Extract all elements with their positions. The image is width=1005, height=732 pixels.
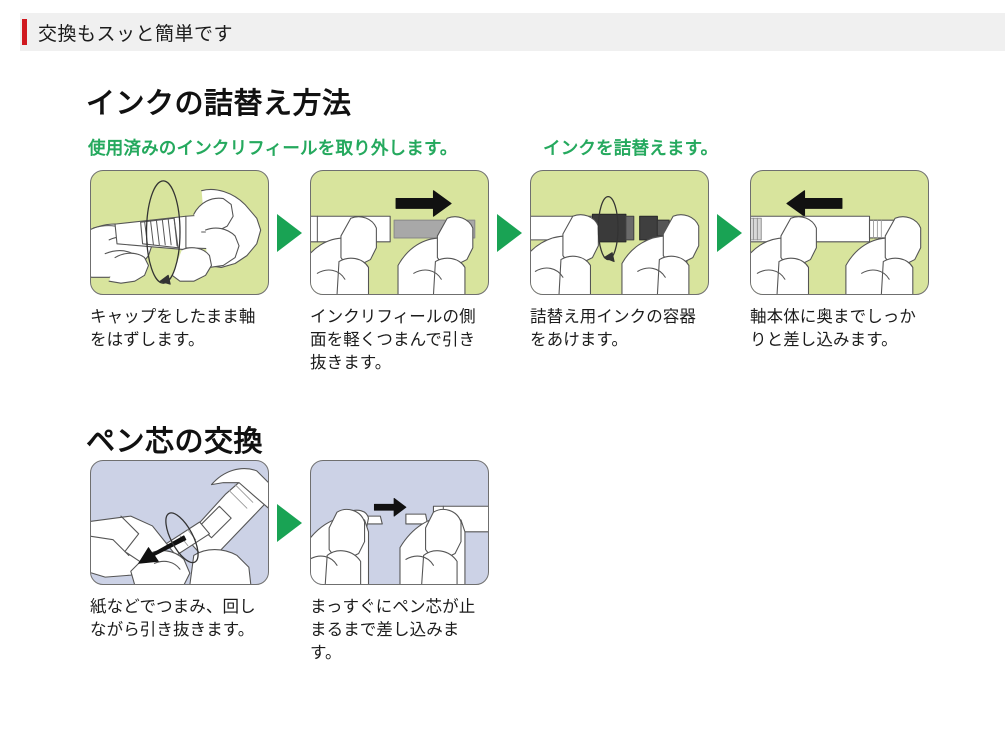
step-caption: 詰替え用インクの容器をあけます。: [530, 306, 700, 352]
step-arrow-icon: [709, 170, 750, 295]
illustration-unscrew-barrel: [90, 170, 269, 295]
illustration-insert-nib: [310, 460, 489, 585]
subtitle-remove-used-refill: 使用済みのインクリフィールを取り外します。: [88, 135, 458, 160]
step-arrow-icon: [489, 170, 530, 295]
step-item: キャップをしたまま軸をはずします。: [90, 170, 269, 352]
step-caption: まっすぐにペン芯が止まるまで差し込みます。: [310, 596, 480, 664]
step-caption: 紙などでつまみ、回しながら引き抜きます。: [90, 596, 260, 642]
illustration-insert-refill: [750, 170, 929, 295]
step-arrow-icon: [269, 170, 310, 295]
step-arrow-icon: [269, 460, 310, 585]
section-heading-nib: ペン芯の交換: [86, 418, 263, 460]
subtitle-row-ink: 使用済みのインクリフィールを取り外します。 インクを詰替えます。: [88, 135, 988, 159]
steps-strip-nib: 紙などでつまみ、回しながら引き抜きます。: [90, 460, 489, 664]
header-accent-bar: [22, 19, 27, 45]
step-caption: インクリフィールの側面を軽くつまんで引き抜きます。: [310, 306, 480, 374]
page-header-band: 交換もスッと簡単です: [20, 13, 1005, 51]
section-heading-ink: インクの詰替え方法: [86, 80, 352, 122]
step-item: まっすぐにペン芯が止まるまで差し込みます。: [310, 460, 489, 664]
steps-strip-ink: キャップをしたまま軸をはずします。: [90, 170, 929, 374]
subtitle-refill-ink: インクを詰替えます。: [543, 135, 718, 160]
step-item: インクリフィールの側面を軽くつまんで引き抜きます。: [310, 170, 489, 374]
step-item: 詰替え用インクの容器をあけます。: [530, 170, 709, 352]
step-caption: 軸本体に奥までしっかりと差し込みます。: [750, 306, 920, 352]
illustration-pull-refill: [310, 170, 489, 295]
page-title: 交換もスッと簡単です: [38, 19, 233, 46]
illustration-open-ink-container: [530, 170, 709, 295]
step-item: 軸本体に奥までしっかりと差し込みます。: [750, 170, 929, 352]
illustration-twist-out-nib: [90, 460, 269, 585]
step-item: 紙などでつまみ、回しながら引き抜きます。: [90, 460, 269, 642]
step-caption: キャップをしたまま軸をはずします。: [90, 306, 260, 352]
